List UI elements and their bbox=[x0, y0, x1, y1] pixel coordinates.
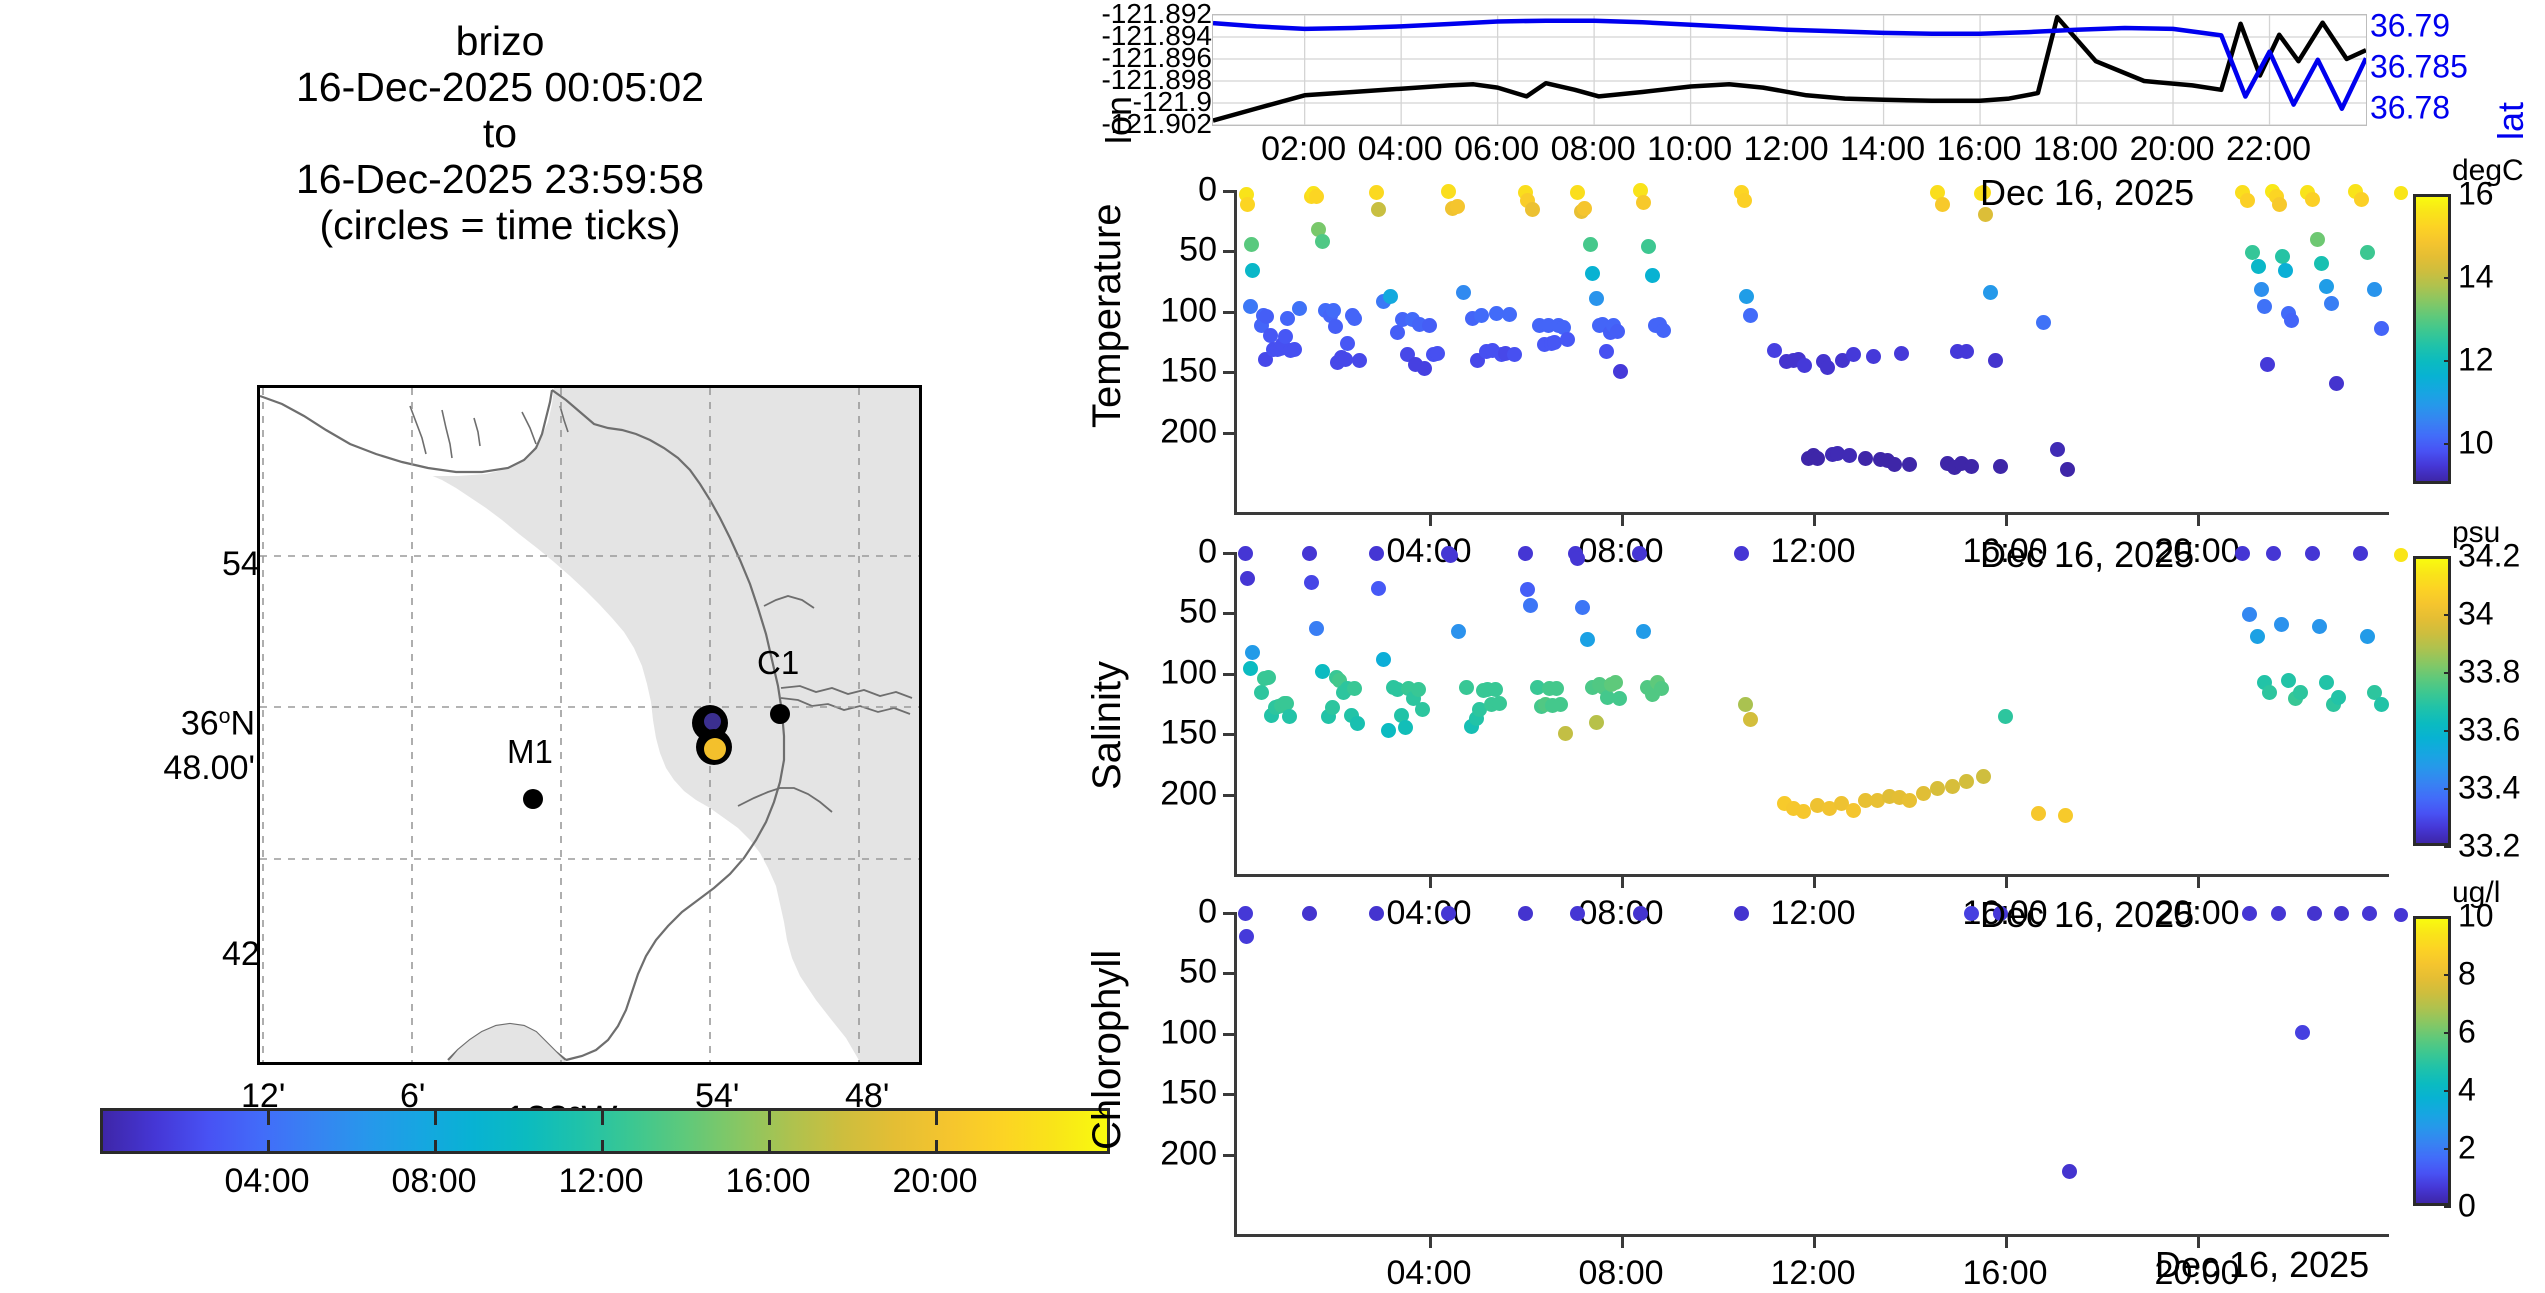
data-point bbox=[1287, 342, 1302, 357]
data-point bbox=[1959, 344, 1974, 359]
chlorophyll-section-cbar-label-8: 8 bbox=[2458, 956, 2476, 993]
data-point bbox=[1398, 720, 1413, 735]
data-point bbox=[1371, 202, 1386, 217]
chlorophyll-section-ytick-50 bbox=[1223, 972, 1235, 975]
nav-xtick-labels: 02:0004:0006:0008:0010:0012:0014:0016:00… bbox=[0, 130, 2545, 174]
data-point bbox=[2319, 675, 2334, 690]
data-point bbox=[1743, 712, 1758, 727]
chlorophyll-section-xtick-label-04:00: 04:00 bbox=[1386, 1254, 1471, 1293]
salinity-section-colorbar-marker bbox=[2394, 548, 2408, 562]
data-point bbox=[1369, 906, 1384, 921]
temperature-section-y-axis-title: Temperature bbox=[1085, 203, 1130, 428]
salinity-section-ytick-50 bbox=[1223, 612, 1235, 615]
data-point bbox=[1350, 716, 1365, 731]
land-polygon bbox=[260, 388, 919, 1062]
temperature-section-ytick-label-0: 0 bbox=[1117, 171, 1217, 210]
data-point bbox=[2374, 697, 2389, 712]
data-point bbox=[2274, 617, 2289, 632]
map-lat-tick-center: 36oN 48.00' bbox=[105, 695, 255, 790]
temperature-section-ytick-100 bbox=[1223, 311, 1235, 314]
temperature-section-xtick-16:00 bbox=[2005, 512, 2008, 526]
salinity-section-cbar-tick-33.8 bbox=[2444, 672, 2451, 674]
data-point bbox=[1964, 459, 1979, 474]
data-point bbox=[1261, 670, 1276, 685]
data-point bbox=[2266, 546, 2281, 561]
data-point bbox=[1636, 195, 1651, 210]
map-coastline-svg bbox=[260, 388, 919, 1062]
nav-lon-tick-labels: -121.892-121.894-121.896-121.898-121.9-1… bbox=[1020, 0, 1212, 130]
station-marker-m1[interactable] bbox=[523, 789, 543, 809]
data-point bbox=[1292, 301, 1307, 316]
nav-xtick-20:00: 20:00 bbox=[2129, 130, 2214, 169]
cbar-label-0400: 04:00 bbox=[224, 1162, 309, 1201]
chlorophyll-section-date-label: Dec 16, 2025 bbox=[1980, 894, 2194, 936]
data-point bbox=[1796, 804, 1811, 819]
salinity-section-cbar-label-33.2: 33.2 bbox=[2458, 828, 2520, 865]
salinity-section-xtick-04:00 bbox=[1429, 874, 1432, 888]
temperature-section-ytick-50 bbox=[1223, 250, 1235, 253]
data-point bbox=[2307, 906, 2322, 921]
salinity-section-ytick-label-0: 0 bbox=[1117, 533, 1217, 572]
data-point bbox=[2278, 263, 2293, 278]
data-point bbox=[1282, 709, 1297, 724]
temperature-section-colorbar[interactable] bbox=[2413, 194, 2451, 484]
data-point bbox=[1238, 546, 1253, 561]
chlorophyll-section-ytick-label-150: 150 bbox=[1117, 1074, 1217, 1113]
data-point bbox=[1738, 697, 1753, 712]
data-point bbox=[1902, 457, 1917, 472]
station-label-m1: M1 bbox=[507, 733, 553, 771]
data-point bbox=[1430, 346, 1445, 361]
data-point bbox=[1451, 624, 1466, 639]
data-point bbox=[1474, 308, 1489, 323]
salinity-section-cbar-label-33.6: 33.6 bbox=[2458, 712, 2520, 749]
chlorophyll-section-ytick-100 bbox=[1223, 1033, 1235, 1036]
data-point bbox=[1570, 551, 1585, 566]
chlorophyll-section-cbar-tick-4 bbox=[2444, 1090, 2451, 1092]
nav-lat-tick-labels: 36.7936.78536.78 bbox=[2370, 0, 2500, 130]
cbar-label-1600: 16:00 bbox=[725, 1162, 810, 1201]
data-point bbox=[1338, 352, 1353, 367]
cbar-tick-2000-bottom bbox=[935, 1140, 938, 1154]
nav-xtick-08:00: 08:00 bbox=[1551, 130, 1636, 169]
data-point bbox=[1743, 308, 1758, 323]
data-point bbox=[2360, 629, 2375, 644]
data-point bbox=[1325, 700, 1340, 715]
chlorophyll-section-xtick-08:00 bbox=[1621, 1234, 1624, 1248]
salinity-section-cbar-tick-33.2 bbox=[2444, 846, 2451, 848]
data-point bbox=[1381, 723, 1396, 738]
data-point bbox=[2262, 685, 2277, 700]
chlorophyll-section-ytick-200 bbox=[1223, 1154, 1235, 1157]
data-point bbox=[1632, 546, 1647, 561]
data-point bbox=[1520, 582, 1535, 597]
temperature-section-xtick-12:00 bbox=[1813, 512, 1816, 526]
data-point bbox=[1959, 774, 1974, 789]
data-point bbox=[1450, 199, 1465, 214]
data-point bbox=[1245, 645, 1260, 660]
temperature-section-date-label: Dec 16, 2025 bbox=[1980, 172, 2194, 214]
nav-xtick-06:00: 06:00 bbox=[1454, 130, 1539, 169]
data-point bbox=[1244, 237, 1259, 252]
data-point bbox=[2334, 906, 2349, 921]
chlorophyll-section-cbar-label-4: 4 bbox=[2458, 1072, 2476, 1109]
cbar-label-1200: 12:00 bbox=[558, 1162, 643, 1201]
chlorophyll-section-xtick-16:00 bbox=[2005, 1234, 2008, 1248]
data-point bbox=[1570, 906, 1585, 921]
time-colorbar[interactable] bbox=[100, 1108, 1110, 1154]
data-point bbox=[1916, 786, 1931, 801]
data-point bbox=[1492, 696, 1507, 711]
data-point bbox=[1315, 664, 1330, 679]
data-point bbox=[1352, 353, 1367, 368]
nav-lat-tick-2: 36.78 bbox=[2370, 89, 2450, 126]
data-point bbox=[2362, 906, 2377, 921]
nav-xtick-10:00: 10:00 bbox=[1647, 130, 1732, 169]
salinity-section-cbar-label-33.4: 33.4 bbox=[2458, 770, 2520, 807]
chlorophyll-section-cbar-tick-0 bbox=[2444, 1206, 2451, 1208]
salinity-section-xtick-08:00 bbox=[1621, 874, 1624, 888]
data-point bbox=[1443, 548, 1458, 563]
nav-lat-tick-1: 36.785 bbox=[2370, 48, 2468, 85]
data-point bbox=[1583, 237, 1598, 252]
chlorophyll-section-ytick-label-50: 50 bbox=[1117, 953, 1217, 992]
salinity-section-xtick-12:00 bbox=[1813, 874, 1816, 888]
data-point bbox=[1525, 202, 1540, 217]
data-point bbox=[1376, 652, 1391, 667]
data-point bbox=[2271, 906, 2286, 921]
salinity-section-ytick-label-200: 200 bbox=[1117, 774, 1217, 813]
data-point bbox=[1930, 781, 1945, 796]
data-point bbox=[1998, 709, 2013, 724]
data-point bbox=[2305, 546, 2320, 561]
data-point bbox=[1866, 349, 1881, 364]
data-point bbox=[1935, 197, 1950, 212]
data-point bbox=[2260, 357, 2275, 372]
salinity-section-y-axis-title: Salinity bbox=[1085, 661, 1130, 790]
data-point bbox=[2305, 192, 2320, 207]
title-start-time: 16-Dec-2025 00:05:02 bbox=[180, 64, 820, 110]
salinity-section-xtick-20:00 bbox=[2197, 874, 2200, 888]
data-point bbox=[1259, 309, 1274, 324]
data-point bbox=[1240, 197, 1255, 212]
salinity-section-ytick-150 bbox=[1223, 733, 1235, 736]
temperature-section-ytick-150 bbox=[1223, 371, 1235, 374]
chlorophyll-section-cbar-tick-6 bbox=[2444, 1032, 2451, 1034]
data-point bbox=[1523, 598, 1538, 613]
data-point bbox=[1993, 459, 2008, 474]
data-point bbox=[1239, 929, 1254, 944]
temperature-section-xtick-04:00 bbox=[1429, 512, 1432, 526]
temperature-section-cbar-tick-10 bbox=[2444, 443, 2451, 445]
data-point bbox=[1820, 360, 1835, 375]
map-lat-hemisphere: N bbox=[230, 705, 255, 743]
data-point bbox=[2314, 256, 2329, 271]
data-point bbox=[2036, 315, 2051, 330]
data-point bbox=[1945, 779, 1960, 794]
chlorophyll-section[interactable] bbox=[1237, 912, 2389, 1202]
track-tick-end[interactable] bbox=[704, 738, 726, 760]
data-point bbox=[1810, 451, 1825, 466]
salinity-section-cbar-tick-33.6 bbox=[2444, 730, 2451, 732]
data-point bbox=[1390, 325, 1405, 340]
data-point bbox=[1315, 234, 1330, 249]
data-point bbox=[2031, 806, 2046, 821]
data-point bbox=[2331, 690, 2346, 705]
station-marker-c1[interactable] bbox=[770, 704, 790, 724]
data-point bbox=[2060, 462, 2075, 477]
data-point bbox=[1988, 353, 2003, 368]
data-point bbox=[2319, 279, 2334, 294]
data-point bbox=[2257, 299, 2272, 314]
temperature-section-ytick-label-100: 100 bbox=[1117, 291, 1217, 330]
data-point bbox=[1894, 346, 1909, 361]
data-point bbox=[1383, 289, 1398, 304]
track-tick-start[interactable] bbox=[704, 713, 721, 730]
nav-xtick-18:00: 18:00 bbox=[2033, 130, 2118, 169]
nav-xtick-22:00: 22:00 bbox=[2226, 130, 2311, 169]
data-point bbox=[2295, 1025, 2310, 1040]
salinity-section-ytick-label-150: 150 bbox=[1117, 714, 1217, 753]
data-point bbox=[1577, 201, 1592, 216]
chlorophyll-section-x-spine bbox=[1234, 1234, 2389, 1237]
data-point bbox=[1887, 457, 1902, 472]
temperature-section-cbar-label-12: 12 bbox=[2458, 341, 2494, 378]
chlorophyll-section-cbar-label-2: 2 bbox=[2458, 1130, 2476, 1167]
data-point bbox=[1507, 347, 1522, 362]
data-point bbox=[2354, 192, 2369, 207]
data-point bbox=[1415, 702, 1430, 717]
data-point bbox=[1585, 266, 1600, 281]
data-point bbox=[1633, 906, 1648, 921]
data-point bbox=[1641, 239, 1656, 254]
salinity-section-xtick-16:00 bbox=[2005, 874, 2008, 888]
data-point bbox=[1441, 184, 1456, 199]
temperature-section-x-spine bbox=[1234, 512, 2389, 515]
data-point bbox=[1243, 299, 1258, 314]
nav-lon-lat-plot[interactable] bbox=[1212, 14, 2367, 126]
data-point bbox=[1326, 303, 1341, 318]
data-point bbox=[1739, 289, 1754, 304]
data-point bbox=[1610, 324, 1625, 339]
cbar-tick-1200-bottom bbox=[601, 1140, 604, 1154]
cbar-tick-1200-top bbox=[601, 1111, 604, 1125]
data-point bbox=[2367, 282, 2382, 297]
chlorophyll-section-cbar-tick-10 bbox=[2444, 916, 2451, 918]
temperature-section-ytick-label-150: 150 bbox=[1117, 352, 1217, 391]
data-point bbox=[1240, 571, 1255, 586]
temperature-section-ytick-0 bbox=[1223, 190, 1235, 193]
data-point bbox=[1488, 682, 1503, 697]
data-point bbox=[1645, 268, 1660, 283]
chlorophyll-section-ytick-label-200: 200 bbox=[1117, 1134, 1217, 1173]
chlorophyll-section-cbar-tick-8 bbox=[2444, 974, 2451, 976]
chlorophyll-section-xtick-label-12:00: 12:00 bbox=[1770, 1254, 1855, 1293]
data-point bbox=[2360, 245, 2375, 260]
data-point bbox=[1422, 318, 1437, 333]
salinity-section-cbar-label-33.8: 33.8 bbox=[2458, 654, 2520, 691]
data-point bbox=[1417, 361, 1432, 376]
title-vehicle-name: brizo bbox=[180, 18, 820, 64]
data-point bbox=[2272, 197, 2287, 212]
temperature-section-ytick-200 bbox=[1223, 432, 1235, 435]
data-point bbox=[1238, 906, 1253, 921]
salinity-section-ytick-200 bbox=[1223, 794, 1235, 797]
data-point bbox=[2329, 376, 2344, 391]
temperature-section-xtick-08:00 bbox=[1621, 512, 1624, 526]
title-legend-note: (circles = time ticks) bbox=[180, 202, 820, 248]
data-point bbox=[1858, 451, 1873, 466]
data-point bbox=[1456, 285, 1471, 300]
data-point bbox=[1964, 906, 1979, 921]
data-point bbox=[1302, 906, 1317, 921]
cbar-tick-0800-top bbox=[434, 1111, 437, 1125]
data-point bbox=[1411, 682, 1426, 697]
data-point bbox=[1589, 715, 1604, 730]
data-point bbox=[1613, 364, 1628, 379]
cbar-tick-0400-top bbox=[267, 1111, 270, 1125]
temperature-section-cbar-label-10: 10 bbox=[2458, 424, 2494, 461]
data-point bbox=[1347, 311, 1362, 326]
data-point bbox=[1983, 285, 1998, 300]
cbar-tick-1600-bottom bbox=[768, 1140, 771, 1154]
temperature-section-ytick-label-200: 200 bbox=[1117, 412, 1217, 451]
station-label-c1: C1 bbox=[757, 644, 799, 682]
data-point bbox=[2242, 607, 2257, 622]
cbar-tick-0400-bottom bbox=[267, 1140, 270, 1154]
salinity-section-ytick-0 bbox=[1223, 552, 1235, 555]
nav-plot-svg bbox=[1213, 15, 2366, 125]
salinity-section-colorbar[interactable] bbox=[2413, 556, 2451, 846]
data-point bbox=[1254, 685, 1269, 700]
data-point bbox=[1459, 680, 1474, 695]
data-point bbox=[2240, 193, 2255, 208]
temperature-section[interactable] bbox=[1237, 190, 2389, 480]
salinity-section[interactable] bbox=[1237, 552, 2389, 842]
data-point bbox=[2353, 546, 2368, 561]
data-point bbox=[2293, 685, 2308, 700]
chlorophyll-section-colorbar[interactable] bbox=[2413, 916, 2451, 1206]
data-point bbox=[1278, 329, 1293, 344]
temperature-section-ytick-label-50: 50 bbox=[1117, 231, 1217, 270]
chlorophyll-section-cbar-label-0: 0 bbox=[2458, 1188, 2476, 1225]
data-point bbox=[1304, 575, 1319, 590]
nav-series-lat[interactable] bbox=[1213, 21, 2366, 109]
data-point bbox=[1842, 448, 1857, 463]
nav-xtick-14:00: 14:00 bbox=[1840, 130, 1925, 169]
temperature-section-cbar-tick-12 bbox=[2444, 360, 2451, 362]
data-point bbox=[1328, 319, 1343, 334]
data-point bbox=[1243, 661, 1258, 676]
data-point bbox=[1369, 546, 1384, 561]
temperature-section-cbar-tick-16 bbox=[2444, 194, 2451, 196]
data-point bbox=[2312, 619, 2327, 634]
chlorophyll-section-colorbar-marker bbox=[2394, 908, 2408, 922]
salinity-section-cbar-label-34.2: 34.2 bbox=[2458, 538, 2520, 575]
data-point bbox=[1580, 632, 1595, 647]
data-point bbox=[1309, 621, 1324, 636]
data-point bbox=[2374, 321, 2389, 336]
chlorophyll-section-cbar-label-10: 10 bbox=[2458, 898, 2494, 935]
data-point bbox=[1589, 291, 1604, 306]
data-point bbox=[1553, 697, 1568, 712]
data-point bbox=[1441, 906, 1456, 921]
chlorophyll-section-ytick-150 bbox=[1223, 1093, 1235, 1096]
salinity-section-ytick-label-100: 100 bbox=[1117, 653, 1217, 692]
time-colorbar-labels: 04:00 08:00 12:00 16:00 20:00 bbox=[100, 1162, 1110, 1204]
cbar-tick-0800-bottom bbox=[434, 1140, 437, 1154]
data-point bbox=[1518, 546, 1533, 561]
temperature-section-cbar-tick-14 bbox=[2444, 277, 2451, 279]
nav-xtick-02:00: 02:00 bbox=[1261, 130, 1346, 169]
data-point bbox=[2058, 808, 2073, 823]
data-point bbox=[2254, 282, 2269, 297]
data-point bbox=[1309, 189, 1324, 204]
chlorophyll-bottom-date-label: Dec 16, 2025 bbox=[2155, 1244, 2369, 1286]
data-point bbox=[2281, 673, 2296, 688]
map-lat-degrees: 36 bbox=[181, 705, 219, 743]
map-lat-degree-symbol: o bbox=[219, 705, 231, 728]
data-point bbox=[1371, 581, 1386, 596]
data-point bbox=[1369, 185, 1384, 200]
map-lat-minutes: 48.00' bbox=[105, 746, 255, 790]
data-point bbox=[1612, 691, 1627, 706]
data-point bbox=[1302, 546, 1317, 561]
monterey-bay-map[interactable]: M1 C1 bbox=[257, 385, 922, 1065]
nav-lat-tick-0: 36.79 bbox=[2370, 8, 2450, 45]
data-point bbox=[2324, 296, 2339, 311]
data-point bbox=[2242, 906, 2257, 921]
data-point bbox=[1549, 681, 1564, 696]
data-point bbox=[1560, 332, 1575, 347]
salinity-section-x-spine bbox=[1234, 874, 2389, 877]
chlorophyll-section-xtick-label-16:00: 16:00 bbox=[1962, 1254, 2047, 1293]
data-point bbox=[1902, 793, 1917, 808]
chlorophyll-section-cbar-label-6: 6 bbox=[2458, 1014, 2476, 1051]
salinity-section-cbar-tick-34.2 bbox=[2444, 556, 2451, 558]
chlorophyll-section-xtick-12:00 bbox=[1813, 1234, 1816, 1248]
temperature-section-colorbar-marker bbox=[2394, 186, 2408, 200]
cbar-label-0800: 08:00 bbox=[391, 1162, 476, 1201]
temperature-section-cbar-label-14: 14 bbox=[2458, 258, 2494, 295]
data-point bbox=[2284, 313, 2299, 328]
salinity-section-date-label: Dec 16, 2025 bbox=[1980, 534, 2194, 576]
data-point bbox=[1347, 681, 1362, 696]
data-point bbox=[1558, 726, 1573, 741]
data-point bbox=[2050, 442, 2065, 457]
temperature-section-cbar-label-16: 16 bbox=[2458, 176, 2494, 213]
nav-xtick-16:00: 16:00 bbox=[1937, 130, 2022, 169]
chlorophyll-section-xtick-label-08:00: 08:00 bbox=[1578, 1254, 1663, 1293]
cbar-tick-1600-top bbox=[768, 1111, 771, 1125]
data-point bbox=[1734, 906, 1749, 921]
chlorophyll-section-y-spine bbox=[1234, 912, 1237, 1234]
nav-xtick-04:00: 04:00 bbox=[1358, 130, 1443, 169]
chlorophyll-section-ytick-label-100: 100 bbox=[1117, 1013, 1217, 1052]
cbar-label-2000: 20:00 bbox=[892, 1162, 977, 1201]
salinity-section-ytick-label-50: 50 bbox=[1117, 593, 1217, 632]
data-point bbox=[2062, 1164, 2077, 1179]
chlorophyll-section-y-axis-title: Chlorophyll bbox=[1085, 950, 1130, 1150]
salinity-section-cbar-tick-33.4 bbox=[2444, 788, 2451, 790]
temperature-section-xtick-20:00 bbox=[2197, 512, 2200, 526]
temperature-section-y-spine bbox=[1234, 190, 1237, 512]
data-point bbox=[1976, 769, 1991, 784]
data-point bbox=[1797, 358, 1812, 373]
data-point bbox=[1575, 600, 1590, 615]
data-point bbox=[1734, 546, 1749, 561]
chlorophyll-section-ytick-label-0: 0 bbox=[1117, 893, 1217, 932]
